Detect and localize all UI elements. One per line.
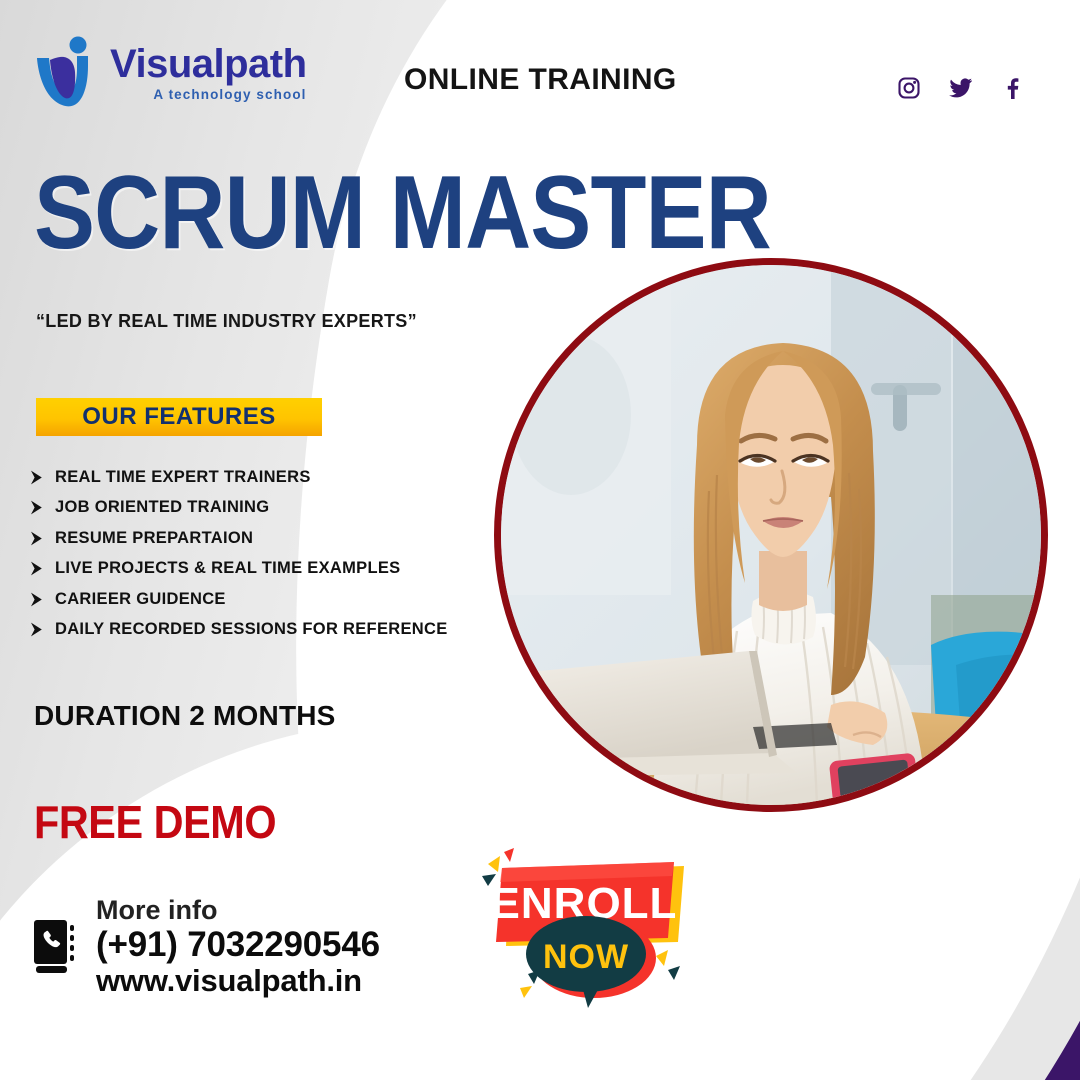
twitter-link[interactable] — [941, 68, 981, 108]
instagram-link[interactable] — [889, 68, 929, 108]
feature-label: DAILY RECORDED SESSIONS FOR REFERENCE — [55, 620, 448, 639]
phone-book-icon — [30, 918, 78, 976]
social-links — [886, 68, 1036, 108]
feature-label: RESUME PREPARTAION — [55, 529, 253, 548]
enroll-now-badge-icon: ENROLL NOW — [476, 846, 692, 1014]
woman-with-laptop-illustration — [501, 265, 1041, 805]
features-list: REAL TIME EXPERT TRAINERS JOB ORIENTED T… — [30, 462, 480, 645]
list-item: RESUME PREPARTAION — [30, 523, 480, 554]
hero-photo — [494, 258, 1048, 812]
free-demo-label: FREE DEMO — [34, 795, 276, 849]
feature-label: JOB ORIENTED TRAINING — [55, 498, 269, 517]
arrow-right-icon — [30, 531, 43, 546]
contact-website[interactable]: www.visualpath.in — [96, 964, 380, 999]
logo-name: Visualpath — [110, 44, 307, 84]
list-item: REAL TIME EXPERT TRAINERS — [30, 462, 480, 493]
enroll-now-button[interactable]: ENROLL NOW — [476, 846, 692, 1014]
arrow-right-icon — [30, 561, 43, 576]
logo-tagline: A technology school — [110, 88, 307, 102]
facebook-link[interactable] — [993, 68, 1033, 108]
instagram-icon — [897, 76, 921, 100]
arrow-right-icon — [30, 592, 43, 607]
contact-block: More info (+91) 7032290546 www.visualpat… — [30, 895, 380, 999]
course-duration: DURATION 2 MONTHS — [34, 700, 336, 732]
svg-text:NOW: NOW — [543, 938, 629, 976]
contact-phone[interactable]: (+91) 7032290546 — [96, 925, 380, 964]
arrow-right-icon — [30, 470, 43, 485]
list-item: JOB ORIENTED TRAINING — [30, 493, 480, 524]
features-badge: OUR FEATURES — [36, 398, 322, 436]
page-title: SCRUM MASTER — [34, 166, 771, 262]
feature-label: REAL TIME EXPERT TRAINERS — [55, 468, 311, 487]
arrow-right-icon — [30, 622, 43, 637]
follow-us-label: Follow us — [886, 32, 1036, 58]
contact-more-info-label: More info — [96, 895, 380, 925]
feature-label: CARIEER GUIDENCE — [55, 590, 226, 609]
arrow-right-icon — [30, 500, 43, 515]
list-item: CARIEER GUIDENCE — [30, 584, 480, 615]
facebook-icon — [1001, 76, 1025, 100]
poster-canvas: Visualpath A technology school ONLINE TR… — [0, 0, 1080, 1080]
page-kicker: ONLINE TRAINING — [404, 63, 677, 97]
visualpath-v-logo-icon — [32, 36, 104, 110]
feature-label: LIVE PROJECTS & REAL TIME EXAMPLES — [55, 559, 400, 578]
follow-us-block: Follow us — [886, 32, 1036, 108]
brand-logo[interactable]: Visualpath A technology school — [32, 36, 307, 110]
twitter-icon — [949, 77, 973, 99]
hero-photo-image — [501, 265, 1041, 805]
list-item: LIVE PROJECTS & REAL TIME EXAMPLES — [30, 554, 480, 585]
list-item: DAILY RECORDED SESSIONS FOR REFERENCE — [30, 615, 480, 646]
features-badge-label: OUR FEATURES — [82, 403, 276, 431]
hero-quote: “LED BY REAL TIME INDUSTRY EXPERTS” — [36, 311, 417, 332]
